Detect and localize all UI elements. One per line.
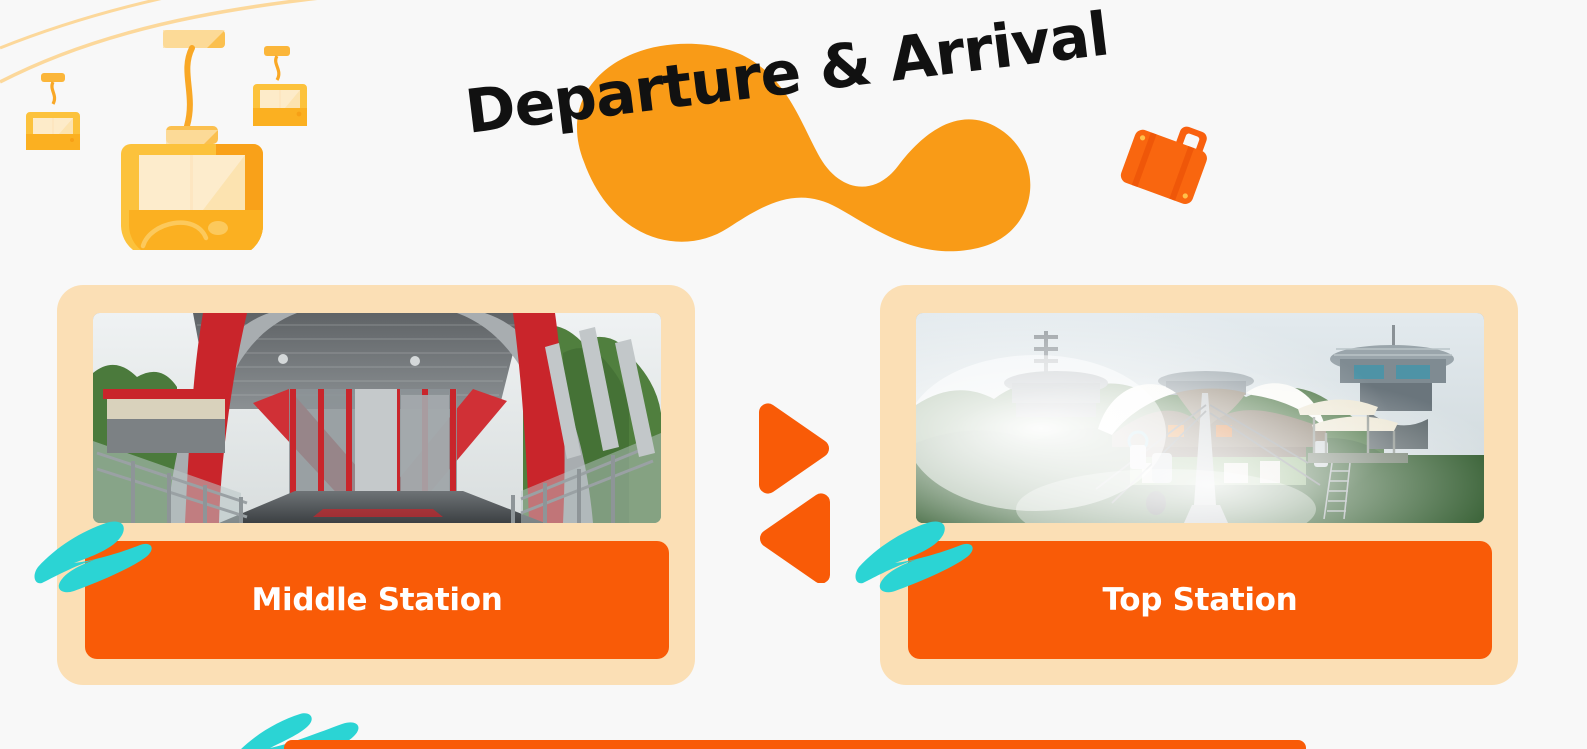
- station-card-top[interactable]: Top Station: [880, 285, 1518, 685]
- triangle-right-icon: [759, 403, 829, 493]
- station-button-top[interactable]: Top Station: [908, 541, 1492, 659]
- triangle-left-icon: [760, 493, 830, 583]
- page-title-group: Departure & Arrival: [466, 22, 1086, 252]
- page-root: Departure & Arrival: [0, 0, 1587, 749]
- bottom-orange-bar: [284, 740, 1306, 749]
- station-label-top: Top Station: [1103, 582, 1298, 618]
- station-label-middle: Middle Station: [252, 582, 503, 618]
- station-photo-top: [916, 313, 1484, 523]
- transfer-arrows[interactable]: [752, 398, 837, 583]
- station-card-middle[interactable]: Middle Station: [57, 285, 695, 685]
- cable-car-illustration: [0, 0, 420, 275]
- station-photo-middle: [93, 313, 661, 523]
- station-button-middle[interactable]: Middle Station: [85, 541, 669, 659]
- suitcase-icon: [1116, 107, 1226, 217]
